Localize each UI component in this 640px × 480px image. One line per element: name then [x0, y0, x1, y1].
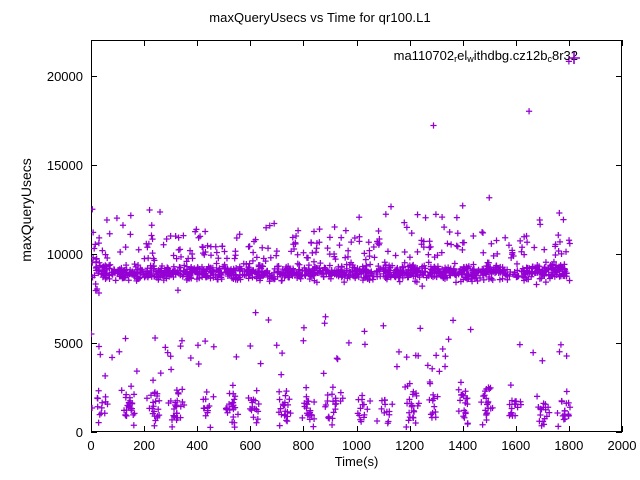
data-point [279, 350, 285, 356]
data-point [556, 210, 562, 216]
data-point [204, 389, 210, 395]
data-point [274, 342, 280, 348]
data-point [232, 248, 238, 254]
data-point [461, 415, 467, 421]
data-point [131, 391, 137, 397]
x-tick-mark-top [516, 40, 517, 46]
data-point [322, 320, 328, 326]
data-point [433, 211, 439, 217]
x-tick-mark-top [91, 40, 92, 46]
data-point [517, 341, 523, 347]
data-point [537, 412, 543, 418]
scatter-points [91, 40, 622, 432]
data-point [450, 317, 456, 323]
data-point [327, 234, 333, 240]
data-point [458, 379, 464, 385]
data-point [537, 217, 543, 223]
data-point [541, 247, 547, 253]
data-point [96, 420, 102, 426]
data-point [564, 353, 570, 359]
data-point [322, 314, 328, 320]
data-point [98, 410, 104, 416]
x-tick-mark [357, 426, 358, 432]
data-point [444, 240, 450, 246]
data-point [134, 368, 140, 374]
y-tick-label: 20000 [31, 70, 83, 83]
data-point [273, 253, 279, 259]
data-point [402, 249, 408, 255]
data-point [152, 335, 158, 341]
data-point [158, 370, 164, 376]
data-point [282, 393, 288, 399]
data-point [539, 358, 545, 364]
data-point [567, 240, 573, 246]
data-point [107, 231, 113, 237]
data-point [259, 245, 265, 251]
x-tick-mark [516, 426, 517, 432]
data-point [316, 226, 322, 232]
data-point [119, 387, 125, 393]
data-point [442, 353, 448, 359]
data-point [247, 343, 253, 349]
data-point [417, 325, 423, 331]
data-point [454, 214, 460, 220]
data-point [168, 366, 174, 372]
data-point [514, 261, 520, 267]
x-tick-mark [463, 426, 464, 432]
data-point [366, 239, 372, 245]
x-tick-label: 1200 [380, 439, 440, 452]
data-point [329, 422, 335, 428]
data-point [211, 344, 217, 350]
data-point [403, 424, 409, 430]
data-point [224, 255, 230, 261]
x-tick-mark-top [463, 40, 464, 46]
y-tick-mark [91, 254, 97, 255]
data-point [91, 331, 94, 337]
data-point [277, 423, 283, 429]
y-tick-label: 5000 [31, 337, 83, 350]
data-point [428, 244, 434, 250]
data-point [127, 231, 133, 237]
data-point [325, 415, 331, 421]
data-point [524, 239, 530, 245]
data-point [301, 325, 307, 331]
data-point [195, 342, 201, 348]
data-point [426, 397, 432, 403]
data-point [436, 368, 442, 374]
y-tick-label: 0 [31, 426, 83, 439]
data-point [338, 390, 344, 396]
data-point [303, 385, 309, 391]
data-point [104, 217, 110, 223]
data-point [196, 235, 202, 241]
legend-key-plus-icon [566, 50, 582, 66]
data-point [210, 394, 216, 400]
data-point [145, 255, 151, 261]
data-point [144, 395, 150, 401]
data-point [232, 255, 238, 261]
x-tick-mark [144, 426, 145, 432]
data-point [332, 224, 338, 230]
data-point [367, 261, 373, 267]
data-point [460, 240, 466, 246]
data-point [324, 245, 330, 251]
data-point [560, 217, 566, 223]
data-point [448, 241, 454, 247]
data-point [330, 384, 336, 390]
data-point [99, 247, 105, 253]
data-point [97, 351, 103, 357]
data-point [256, 401, 262, 407]
x-tick-label: 800 [273, 439, 333, 452]
data-point [237, 231, 243, 237]
data-point [429, 366, 435, 372]
data-point [300, 338, 306, 344]
data-point [447, 229, 453, 235]
data-point [396, 349, 402, 355]
x-tick-mark-top [197, 40, 198, 46]
x-tick-mark [91, 426, 92, 432]
data-point [433, 352, 439, 358]
data-point [502, 235, 508, 241]
data-point [197, 233, 203, 239]
data-point [258, 361, 264, 367]
data-point [470, 233, 476, 239]
data-point [561, 416, 567, 422]
data-point [329, 391, 335, 397]
data-point [367, 398, 373, 404]
data-point [97, 412, 103, 418]
x-tick-mark-top [303, 40, 304, 46]
data-point [246, 244, 252, 250]
data-point [116, 349, 122, 355]
data-point [407, 414, 413, 420]
data-point [343, 228, 349, 234]
data-point [552, 252, 558, 258]
data-point [468, 326, 474, 332]
data-point [295, 252, 301, 258]
data-point [123, 262, 129, 268]
data-point [508, 382, 514, 388]
data-point [519, 244, 525, 250]
x-tick-mark-top [357, 40, 358, 46]
y-tick-mark [91, 343, 97, 344]
data-point [364, 406, 370, 412]
data-point [363, 257, 369, 263]
data-point [265, 317, 271, 323]
data-point [530, 350, 536, 356]
x-axis-label: Time(s) [91, 454, 622, 469]
data-point [480, 422, 486, 428]
data-point [404, 354, 410, 360]
y-tick-label: 10000 [31, 248, 83, 261]
data-point [361, 328, 367, 334]
data-point [265, 245, 271, 251]
y-tick-mark-right [616, 343, 622, 344]
data-point [300, 250, 306, 256]
data-point [102, 394, 108, 400]
y-tick-label: 15000 [31, 159, 83, 172]
data-point [268, 255, 274, 261]
data-point [452, 260, 458, 266]
data-point [250, 249, 256, 255]
data-point [96, 388, 102, 394]
chart-page: maxQueryUsecs vs Time for qr100.L1 maxQu… [0, 0, 640, 480]
data-point [425, 252, 431, 258]
data-point [160, 242, 166, 248]
x-tick-mark [303, 426, 304, 432]
data-point [422, 215, 428, 221]
data-point [490, 277, 496, 283]
data-point [460, 203, 466, 209]
data-point [385, 248, 391, 254]
data-point [431, 403, 437, 409]
data-point [480, 230, 486, 236]
data-point [534, 393, 540, 399]
data-point [149, 236, 155, 242]
data-point [188, 355, 194, 361]
data-point [299, 415, 305, 421]
data-point [479, 229, 485, 235]
data-point [128, 383, 134, 389]
x-tick-label: 400 [167, 439, 227, 452]
x-tick-label: 600 [220, 439, 280, 452]
data-point [93, 281, 99, 287]
data-point [202, 338, 208, 344]
x-tick-label: 1400 [433, 439, 493, 452]
data-point [202, 228, 208, 234]
y-tick-mark [91, 165, 97, 166]
data-point [397, 279, 403, 285]
data-point [488, 241, 494, 247]
data-point [280, 402, 286, 408]
data-point [207, 424, 213, 430]
data-point [543, 259, 549, 265]
x-tick-label: 2000 [592, 439, 640, 452]
data-point [335, 356, 341, 362]
data-point [99, 400, 105, 406]
data-point [309, 250, 315, 256]
data-point [250, 258, 256, 264]
data-point [177, 343, 183, 349]
data-point [455, 230, 461, 236]
data-point [277, 396, 283, 402]
data-point [311, 228, 317, 234]
data-point [442, 363, 448, 369]
data-point [151, 423, 157, 429]
data-point [290, 234, 296, 240]
data-point [215, 255, 221, 261]
data-point [414, 249, 420, 255]
data-point [355, 396, 361, 402]
data-point [175, 287, 181, 293]
data-point [123, 244, 129, 250]
x-tick-mark-top [144, 40, 145, 46]
x-tick-label: 1000 [327, 439, 387, 452]
data-point [456, 408, 462, 414]
data-point [293, 233, 299, 239]
data-point [131, 422, 137, 428]
data-point [128, 212, 134, 218]
data-point [274, 248, 280, 254]
x-tick-mark-top [410, 40, 411, 46]
data-point [531, 244, 537, 250]
data-point [123, 394, 129, 400]
data-point [517, 238, 523, 244]
data-point [374, 418, 380, 424]
data-point [554, 410, 560, 416]
data-point [168, 353, 174, 359]
chart-title: maxQueryUsecs vs Time for qr100.L1 [0, 10, 640, 25]
data-point [325, 392, 331, 398]
data-point [389, 401, 395, 407]
data-point [356, 234, 362, 240]
data-point [486, 195, 492, 201]
data-point [310, 424, 316, 430]
data-point [230, 382, 236, 388]
data-point [453, 279, 459, 285]
plot-area [91, 40, 622, 432]
data-point [114, 215, 120, 221]
data-point [558, 342, 564, 348]
data-point [246, 261, 252, 267]
data-point [144, 244, 150, 250]
data-point [278, 372, 284, 378]
data-point [321, 370, 327, 376]
data-point [91, 206, 95, 212]
x-tick-label: 1600 [486, 439, 546, 452]
data-point [94, 395, 100, 401]
data-point [336, 242, 342, 248]
y-tick-mark-right [616, 76, 622, 77]
data-point [380, 323, 386, 329]
data-point [165, 350, 171, 356]
data-point [96, 343, 102, 349]
data-point [334, 355, 340, 361]
x-tick-mark [569, 426, 570, 432]
data-point [393, 252, 399, 258]
data-point [179, 386, 185, 392]
data-point [506, 242, 512, 248]
data-point [478, 399, 484, 405]
data-point [150, 377, 156, 383]
data-point [149, 250, 155, 256]
data-point [179, 338, 185, 344]
data-point [567, 404, 573, 410]
data-point [433, 414, 439, 420]
data-point [345, 248, 351, 254]
data-point [254, 388, 260, 394]
data-point [556, 349, 562, 355]
data-point [308, 239, 314, 245]
legend-label: ma110702relwithdbg.cz12bc8r32 [394, 48, 578, 64]
data-point [426, 244, 432, 250]
x-tick-mark [410, 426, 411, 432]
data-point [276, 389, 282, 395]
data-point [120, 222, 126, 228]
data-point [371, 254, 377, 260]
data-point [555, 232, 561, 238]
data-point [113, 277, 119, 283]
data-point [311, 399, 317, 405]
data-point [533, 281, 539, 287]
data-point [91, 245, 97, 251]
data-point [566, 237, 572, 243]
x-tick-mark [622, 426, 623, 432]
data-point [383, 211, 389, 217]
x-tick-label: 200 [114, 439, 174, 452]
data-point [454, 243, 460, 249]
data-point [148, 232, 154, 238]
data-point [441, 224, 447, 230]
x-tick-mark [250, 426, 251, 432]
data-point [253, 310, 259, 316]
y-axis-label: maxQueryUsecs [18, 130, 34, 290]
data-point [92, 241, 98, 247]
data-point [352, 235, 358, 241]
data-point [208, 252, 214, 258]
data-point [234, 235, 240, 241]
x-tick-mark-top [622, 40, 623, 46]
data-point [286, 396, 292, 402]
data-point [375, 228, 381, 234]
data-point [311, 259, 317, 265]
data-point [196, 361, 202, 367]
y-tick-mark-right [616, 432, 622, 433]
data-point [149, 222, 155, 228]
data-point [430, 122, 436, 128]
data-point [176, 247, 182, 253]
data-point [109, 354, 115, 360]
x-tick-mark-top [569, 40, 570, 46]
data-point [480, 250, 486, 256]
x-tick-mark [197, 426, 198, 432]
data-point [526, 108, 532, 114]
data-point [543, 279, 549, 285]
data-point [91, 405, 95, 411]
data-point [425, 362, 431, 368]
data-point [102, 373, 108, 379]
data-point [419, 283, 425, 289]
data-point [414, 212, 420, 218]
data-point [394, 364, 400, 370]
y-tick-mark [91, 76, 97, 77]
data-point [346, 340, 352, 346]
x-tick-label: 1800 [539, 439, 599, 452]
data-point [122, 412, 128, 418]
legend-series-name: ma110702relwithdbg.cz12bc8r32 [394, 48, 578, 63]
data-point [388, 204, 394, 210]
data-point [254, 254, 260, 260]
data-point [564, 388, 570, 394]
data-point [213, 260, 219, 266]
data-point [171, 252, 177, 258]
data-point [556, 248, 562, 254]
data-point [287, 410, 293, 416]
data-point [117, 249, 123, 255]
data-point [566, 277, 572, 283]
data-point [164, 236, 170, 242]
data-point [439, 214, 445, 220]
data-point [168, 233, 174, 239]
data-point [338, 235, 344, 241]
data-point [493, 237, 499, 243]
data-point [253, 420, 259, 426]
data-point [95, 404, 101, 410]
data-point [465, 420, 471, 426]
data-point [205, 404, 211, 410]
